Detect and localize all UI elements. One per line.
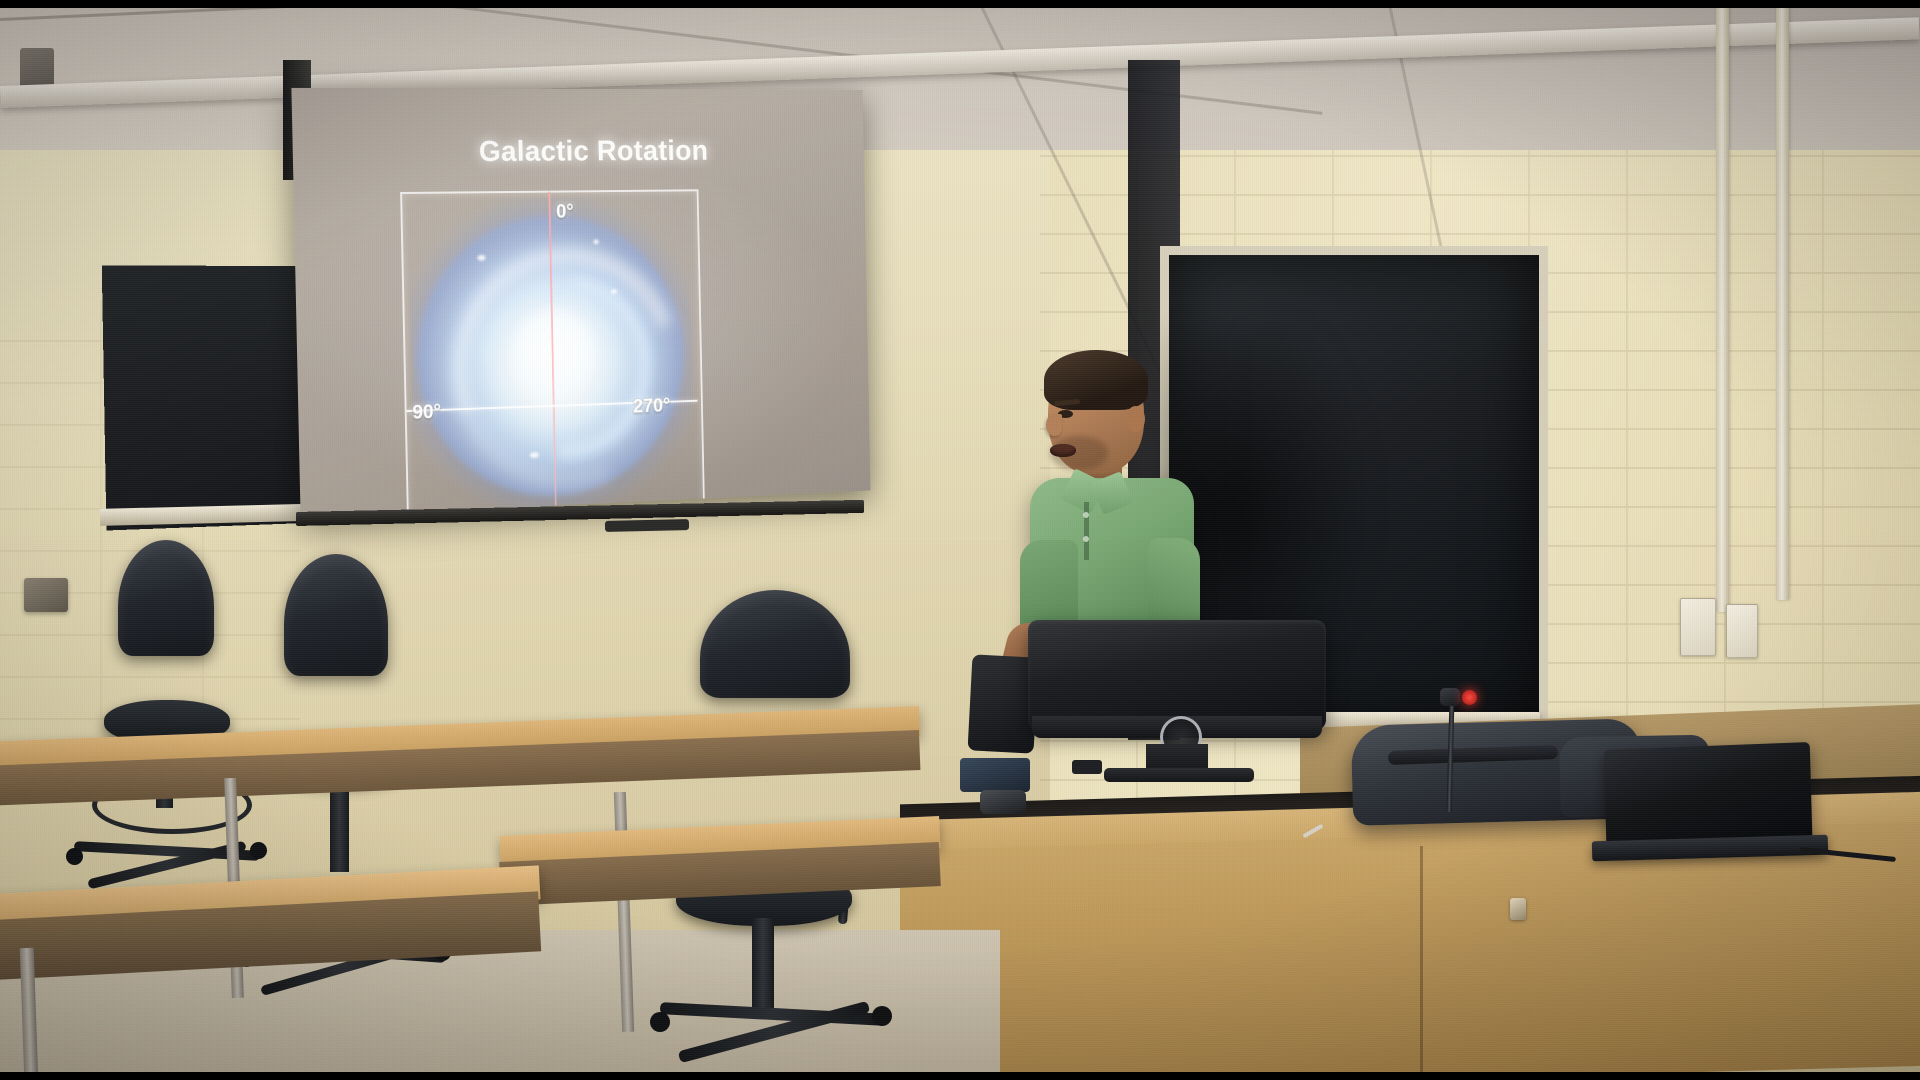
presenter-ear: [1126, 406, 1145, 432]
microphone-head-icon: [1440, 688, 1460, 706]
projection-screen: Galactic Rotation 0° 90° 270°: [291, 88, 870, 518]
laptop-screen: [1604, 742, 1813, 848]
galaxy-speck: [593, 239, 599, 244]
stool-caster: [250, 842, 267, 859]
wall-mounted-box: [24, 578, 68, 612]
podium-front-panel: [900, 822, 1920, 1080]
angle-label-90: 90°: [412, 401, 441, 425]
desk-equipment-puck: [980, 790, 1026, 814]
presenter-shirt-placket: [1084, 502, 1089, 560]
angle-label-0: 0°: [556, 201, 574, 223]
presenter-mouth: [1050, 444, 1076, 457]
presenter-shirt-button: [1083, 512, 1089, 518]
presenter-nose: [1046, 414, 1062, 436]
desk-equipment-box: [960, 758, 1030, 792]
status-light-icon: [1462, 690, 1477, 705]
stool-caster: [872, 1006, 892, 1026]
screen-pull-handle[interactable]: [605, 519, 689, 532]
light-switch-plate[interactable]: [1680, 598, 1716, 656]
letterbox-top: [0, 0, 1920, 8]
light-switch-plate[interactable]: [1726, 604, 1758, 658]
monitor-port: [1072, 760, 1102, 774]
stool-post: [752, 918, 774, 1014]
podium-seam: [1420, 846, 1423, 1076]
stool-caster: [650, 1012, 670, 1032]
monitor-base: [1104, 768, 1254, 782]
stool-caster: [66, 848, 83, 865]
podium-lock[interactable]: [1510, 898, 1526, 920]
slide-title: Galactic Rotation: [418, 135, 765, 169]
monitor-screen: [1028, 620, 1326, 730]
ceiling-vent-icon: [20, 48, 54, 88]
wall-conduit: [1776, 0, 1789, 600]
dell-monitor: [1028, 620, 1326, 770]
letterbox-bottom: [0, 1072, 1920, 1080]
presenter-shirt-button: [1083, 536, 1089, 542]
wall-conduit: [1716, 0, 1729, 612]
screenshot-root: Galactic Rotation 0° 90° 270°: [0, 0, 1920, 1080]
angle-label-270: 270°: [633, 395, 671, 418]
